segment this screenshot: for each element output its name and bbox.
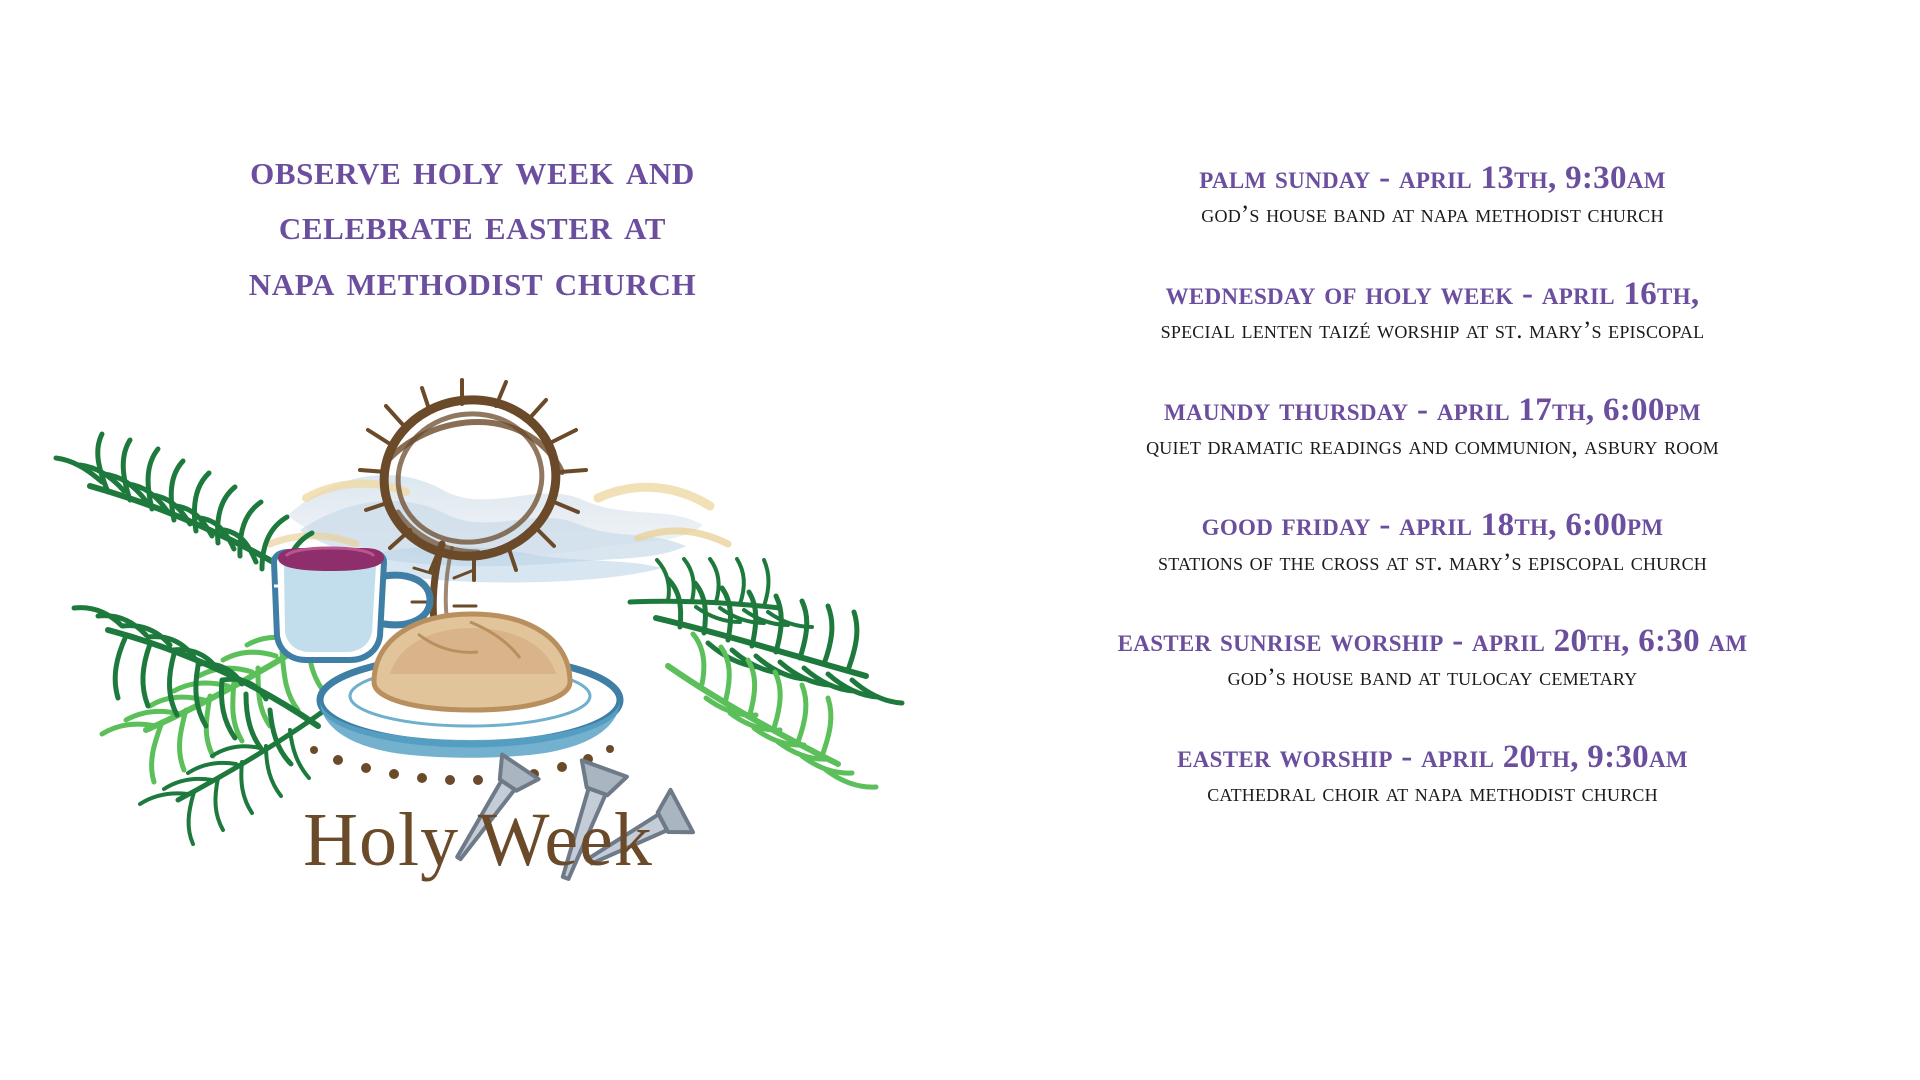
event-item-maundy-thursday: Maundy Thursday - April 17th, 6:00pm Qui… xyxy=(945,392,1920,462)
palm-branch-right xyxy=(630,559,902,787)
page-title-line-1: Observe Holy Week and xyxy=(0,142,945,197)
artwork-wordmark: Holy Week xyxy=(303,798,653,882)
event-subtitle: Special Lenten Taizé Worship at St. Mary… xyxy=(955,316,1910,346)
event-item-easter-sunrise-worship: Easter Sunrise Worship - April 20th, 6:3… xyxy=(945,623,1920,693)
page-title-line-2: Celebrate Easter at xyxy=(0,197,945,252)
event-item-easter-worship: Easter Worship - April 20th, 9:30am Cath… xyxy=(945,739,1920,809)
holy-week-illustration: Holy Week xyxy=(38,330,918,890)
event-title: Maundy Thursday - April 17th, 6:00pm xyxy=(955,392,1910,428)
event-item-wednesday-holy-week: Wednesday of Holy Week - April 16th, Spe… xyxy=(945,276,1920,346)
event-item-palm-sunday: Palm Sunday - April 13th, 9:30am God’s H… xyxy=(945,160,1920,230)
event-subtitle: Stations of the Cross at St. Mary’s Epis… xyxy=(955,548,1910,578)
page-title: Observe Holy Week and Celebrate Easter a… xyxy=(0,142,945,308)
event-title: Wednesday of Holy Week - April 16th, xyxy=(955,276,1910,312)
event-subtitle: God’s House Band at Napa Methodist Churc… xyxy=(955,200,1910,230)
page-title-line-3: Napa Methodist Church xyxy=(0,253,945,308)
holy-week-poster: Observe Holy Week and Celebrate Easter a… xyxy=(0,0,1920,1080)
event-title: Easter Sunrise Worship - April 20th, 6:3… xyxy=(955,623,1910,659)
event-subtitle: Quiet Dramatic Readings and Communion, A… xyxy=(955,432,1910,462)
event-subtitle: God’s House Band at Tulocay Cemetary xyxy=(955,663,1910,693)
left-column: Observe Holy Week and Celebrate Easter a… xyxy=(0,0,945,1080)
event-title: Palm Sunday - April 13th, 9:30am xyxy=(955,160,1910,196)
event-item-good-friday: Good Friday - April 18th, 6:00pm Station… xyxy=(945,507,1920,577)
event-title: Easter Worship - April 20th, 9:30am xyxy=(955,739,1910,775)
event-title: Good Friday - April 18th, 6:00pm xyxy=(955,507,1910,543)
right-column: Palm Sunday - April 13th, 9:30am God’s H… xyxy=(945,0,1920,1080)
event-subtitle: Cathedral Choir at Napa Methodist Church xyxy=(955,779,1910,809)
event-schedule-list: Palm Sunday - April 13th, 9:30am God’s H… xyxy=(945,160,1920,809)
